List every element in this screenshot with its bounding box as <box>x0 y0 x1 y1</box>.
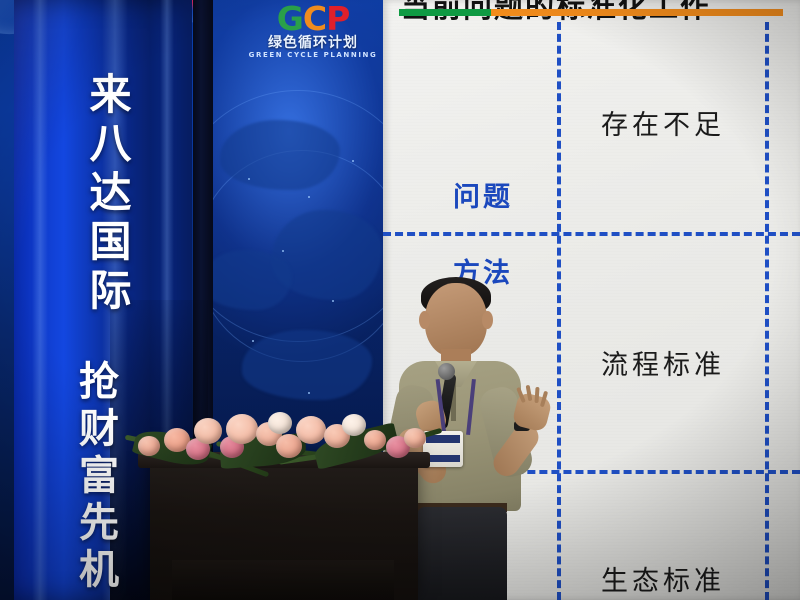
rose-blossom <box>296 416 326 444</box>
speaker-ear-left <box>419 311 430 329</box>
globe-dot <box>308 392 310 394</box>
banner-text-column-2: 抢财富先机 <box>66 360 124 595</box>
banner-fold <box>32 0 48 600</box>
globe-dot <box>252 340 254 342</box>
cell-deficiency: 存在不足 <box>561 100 765 144</box>
row-label-problem-text: 问题 <box>453 175 513 214</box>
globe-dot <box>282 250 284 252</box>
banner-text-column-1: 来八达国际 <box>76 72 137 317</box>
globe-dot <box>308 196 310 198</box>
rose-blossom <box>194 418 222 444</box>
cell-ecology-standard: 生态标准 <box>561 556 765 600</box>
globe-dot <box>332 300 334 302</box>
podium-base <box>172 560 394 600</box>
logo-letter-p: P <box>326 0 349 38</box>
globe-landmass <box>212 250 292 310</box>
globe-landmass <box>220 120 340 190</box>
globe-dot <box>248 178 250 180</box>
cell-process-standard: 流程标准 <box>561 340 765 384</box>
logo-letter-g: G <box>277 0 303 38</box>
rose-blossom <box>404 428 426 448</box>
cell-deficiency-text: 存在不足 <box>601 103 725 142</box>
speaker-ear-right <box>482 311 493 329</box>
grid-vline-right <box>765 22 769 600</box>
rose-blossom <box>342 414 366 436</box>
gcp-logo: GCP 绿色循环计划 GREEN CYCLE PLANNING <box>244 2 382 56</box>
speaker-head <box>425 283 487 357</box>
globe-dot <box>352 160 354 162</box>
flower-arrangement <box>128 400 438 472</box>
slide-rule-orange <box>491 9 783 16</box>
rose-blossom <box>138 436 160 456</box>
logo-english-name: GREEN CYCLE PLANNING <box>244 51 382 60</box>
logo-chinese-name: 绿色循环计划 <box>244 35 382 51</box>
row-label-problem: 问题 <box>423 172 543 216</box>
rose-blossom <box>268 412 292 434</box>
globe-graphic-panel <box>212 0 384 440</box>
rose-blossom <box>364 430 386 450</box>
speaker-trousers <box>417 507 507 600</box>
rose-blossom <box>226 414 258 444</box>
cell-ecology-standard-text: 生态标准 <box>601 559 725 598</box>
microphone-head <box>438 363 455 380</box>
logo-letter-c: C <box>303 0 326 38</box>
cell-process-standard-text: 流程标准 <box>601 343 725 382</box>
presentation-photo: GCP 绿色循环计划 GREEN CYCLE PLANNING 来八达国际 抢财… <box>0 0 800 600</box>
slide-rule-green <box>399 9 491 16</box>
globe-landmass <box>242 330 372 400</box>
grid-hline-upper <box>383 232 800 236</box>
